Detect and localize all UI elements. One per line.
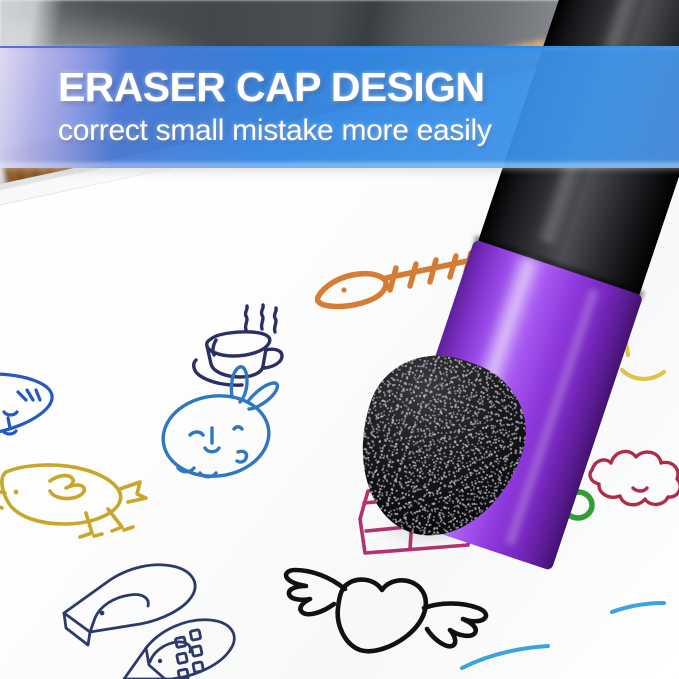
product-marketing-image: ERASER CAP DESIGN correct small mistake … bbox=[0, 0, 679, 679]
banner-subheadline: correct small mistake more easily bbox=[58, 114, 679, 149]
banner-text-block: ERASER CAP DESIGN correct small mistake … bbox=[0, 52, 679, 164]
banner-bottom-glow bbox=[0, 163, 679, 173]
banner-headline: ERASER CAP DESIGN bbox=[58, 67, 679, 109]
